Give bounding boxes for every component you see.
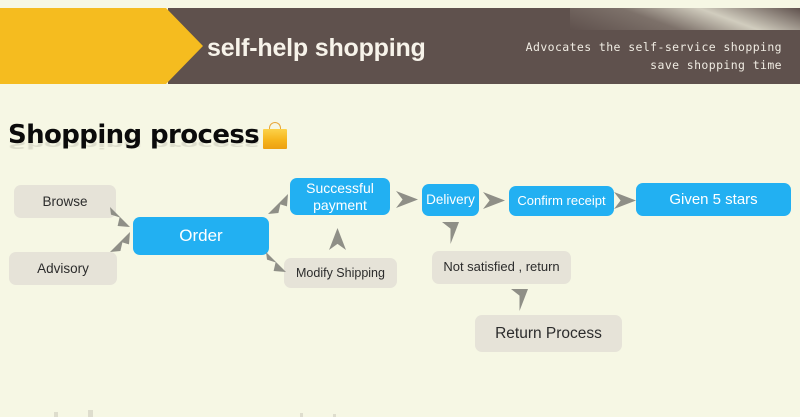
flow-node-return-process-label: Return Process (495, 325, 602, 343)
flow-node-successful-payment[interactable]: Successful payment (290, 178, 390, 215)
flow-node-modify-shipping-label: Modify Shipping (296, 266, 385, 280)
flow-node-delivery[interactable]: Delivery (422, 184, 479, 216)
shopping-bag-icon (262, 122, 288, 149)
flow-node-given-5-stars[interactable]: Given 5 stars (636, 183, 791, 216)
page-root: self-help shopping Advocates the self-se… (0, 0, 800, 417)
arrow-successful-payment-to-delivery (396, 191, 418, 208)
flow-node-modify-shipping[interactable]: Modify Shipping (284, 258, 397, 288)
flow-node-return-process[interactable]: Return Process (475, 315, 622, 352)
arrow-delivery-to-not-satisfied (442, 222, 459, 244)
flow-node-advisory[interactable]: Advisory (9, 252, 117, 285)
banner-subtitle-line-2: save shopping time (362, 56, 782, 74)
flow-node-delivery-label: Delivery (426, 192, 475, 208)
flow-node-not-satisfied-label: Not satisfied , return (443, 260, 559, 275)
section-title-group: Shopping process (8, 120, 288, 149)
bottom-artifact-3 (300, 413, 303, 417)
flow-node-confirm-receipt-label: Confirm receipt (517, 194, 605, 209)
flow-node-browse-label: Browse (42, 194, 87, 210)
header-banner: self-help shopping Advocates the self-se… (0, 8, 800, 84)
flow-node-order[interactable]: Order (133, 217, 269, 255)
section-title: Shopping process (8, 122, 259, 148)
flow-node-browse[interactable]: Browse (14, 185, 116, 218)
bottom-artifact-1 (54, 412, 58, 417)
banner-subtitle: Advocates the self-service shopping save… (362, 38, 782, 74)
banner-subtitle-line-1: Advocates the self-service shopping (362, 38, 782, 56)
flow-node-advisory-label: Advisory (37, 261, 89, 277)
arrow-order-to-successful-payment (268, 194, 288, 214)
flow-node-not-satisfied[interactable]: Not satisfied , return (432, 251, 571, 284)
shopping-bag-body (263, 129, 287, 149)
arrow-not-satisfied-to-return-process (511, 289, 528, 311)
flow-node-order-label: Order (179, 226, 222, 246)
arrow-delivery-to-confirm-receipt (483, 192, 505, 209)
flow-node-confirm-receipt[interactable]: Confirm receipt (509, 186, 614, 216)
flow-node-given-5-stars-label: Given 5 stars (669, 191, 757, 208)
arrow-browse-to-order (110, 207, 130, 227)
banner-arrow-shape (0, 8, 203, 84)
arrow-confirm-receipt-to-given-5-stars (614, 192, 636, 209)
arrow-order-to-modify-shipping (266, 252, 286, 272)
arrow-advisory-to-order (110, 232, 130, 252)
flow-node-successful-payment-label: Successful payment (290, 180, 390, 212)
bottom-artifact-2 (88, 410, 93, 417)
arrow-modify-shipping-to-successful-payment (329, 228, 346, 250)
